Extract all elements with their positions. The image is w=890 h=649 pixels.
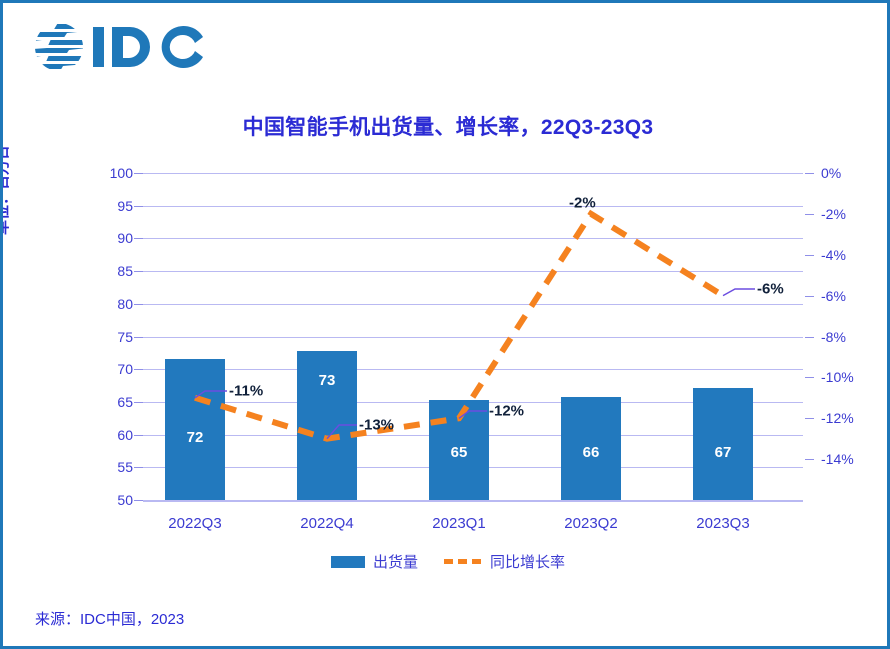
- ytick-right-2: -2%: [821, 206, 881, 222]
- axis-baseline-50: [143, 500, 803, 502]
- gridline-95: [143, 206, 803, 207]
- ytick-left-80: 80: [73, 296, 133, 312]
- legend-line-swatch-icon: [444, 559, 482, 564]
- pct-label-2023Q3: -6%: [757, 281, 784, 298]
- idc-globe-icon: [33, 21, 85, 73]
- xtick-2023Q2: 2023Q2: [564, 515, 617, 532]
- ytick-right-4: -4%: [821, 247, 881, 263]
- gridline-100: [143, 173, 803, 174]
- ytick-dash-right-6: [805, 296, 814, 297]
- ytick-dash-right-4: [805, 255, 814, 256]
- legend-item-shipments[interactable]: 出货量: [331, 551, 418, 572]
- ytick-left-100: 100: [73, 165, 133, 181]
- source-note: 来源：IDC中国，2023: [35, 608, 184, 629]
- chart-page: 中国智能手机出货量、增长率，22Q3-23Q3 单位：百万台 72 73 65 …: [0, 0, 890, 649]
- ytick-dash-left-65: [134, 402, 143, 403]
- xtick-2022Q4: 2022Q4: [300, 515, 353, 532]
- pct-label-2022Q3: -11%: [229, 383, 263, 400]
- ytick-dash-right-2: [805, 214, 814, 215]
- ytick-dash-left-95: [134, 206, 143, 207]
- gridline-90: [143, 238, 803, 239]
- ytick-right-0: 0%: [821, 165, 881, 181]
- ytick-right-6: -6%: [821, 288, 881, 304]
- ytick-left-60: 60: [73, 427, 133, 443]
- idc-wordmark: [91, 23, 209, 71]
- ytick-right-8: -8%: [821, 329, 881, 345]
- chart-title: 中国智能手机出货量、增长率，22Q3-23Q3: [3, 111, 890, 141]
- legend-label-shipments: 出货量: [373, 551, 418, 572]
- ytick-right-12: -12%: [821, 410, 881, 426]
- gridline-70: [143, 369, 803, 370]
- ytick-left-85: 85: [73, 263, 133, 279]
- ytick-left-70: 70: [73, 361, 133, 377]
- ytick-left-75: 75: [73, 329, 133, 345]
- bar-label-2023Q2: 66: [583, 444, 600, 461]
- ytick-dash-right-14: [805, 459, 814, 460]
- bar-label-2022Q3: 72: [187, 429, 204, 446]
- xtick-2022Q3: 2022Q3: [168, 515, 221, 532]
- ytick-left-95: 95: [73, 198, 133, 214]
- ytick-dash-left-80: [134, 304, 143, 305]
- bar-label-2022Q4: 73: [319, 372, 336, 389]
- ytick-right-10: -10%: [821, 369, 881, 385]
- ytick-dash-left-100: [134, 173, 143, 174]
- ytick-dash-right-12: [805, 418, 814, 419]
- ytick-dash-left-90: [134, 238, 143, 239]
- ytick-left-90: 90: [73, 230, 133, 246]
- ytick-dash-left-70: [134, 369, 143, 370]
- gridline-80: [143, 304, 803, 305]
- ytick-dash-left-55: [134, 467, 143, 468]
- ytick-dash-left-50: [134, 500, 143, 501]
- ytick-dash-right-0: [805, 173, 814, 174]
- xtick-2023Q1: 2023Q1: [432, 515, 485, 532]
- bar-label-2023Q1: 65: [451, 444, 468, 461]
- legend-bar-swatch-icon: [331, 556, 365, 568]
- y-axis-title: 单位：百万台: [0, 145, 12, 235]
- ytick-dash-left-85: [134, 271, 143, 272]
- ytick-left-55: 55: [73, 459, 133, 475]
- pct-label-2023Q2: -2%: [569, 195, 596, 212]
- ytick-left-50: 50: [73, 492, 133, 508]
- legend-item-growth-rate[interactable]: 同比增长率: [444, 551, 565, 572]
- ytick-right-14: -14%: [821, 451, 881, 467]
- ytick-dash-right-10: [805, 377, 814, 378]
- bar-label-2023Q3: 67: [715, 444, 732, 461]
- idc-logo: [33, 21, 209, 73]
- ytick-dash-right-8: [805, 337, 814, 338]
- ytick-dash-left-60: [134, 435, 143, 436]
- gridline-75: [143, 337, 803, 338]
- plot-area: 72 73 65 66 67 -11% -13% -12% -2% -6%: [143, 173, 803, 500]
- xtick-2023Q3: 2023Q3: [696, 515, 749, 532]
- ytick-dash-left-75: [134, 337, 143, 338]
- ytick-left-65: 65: [73, 394, 133, 410]
- gridline-85: [143, 271, 803, 272]
- pct-label-2023Q1: -12%: [489, 403, 524, 420]
- pct-label-2022Q4: -13%: [359, 417, 394, 434]
- legend-label-growth-rate: 同比增长率: [490, 551, 565, 572]
- chart-legend: 出货量 同比增长率: [3, 551, 890, 572]
